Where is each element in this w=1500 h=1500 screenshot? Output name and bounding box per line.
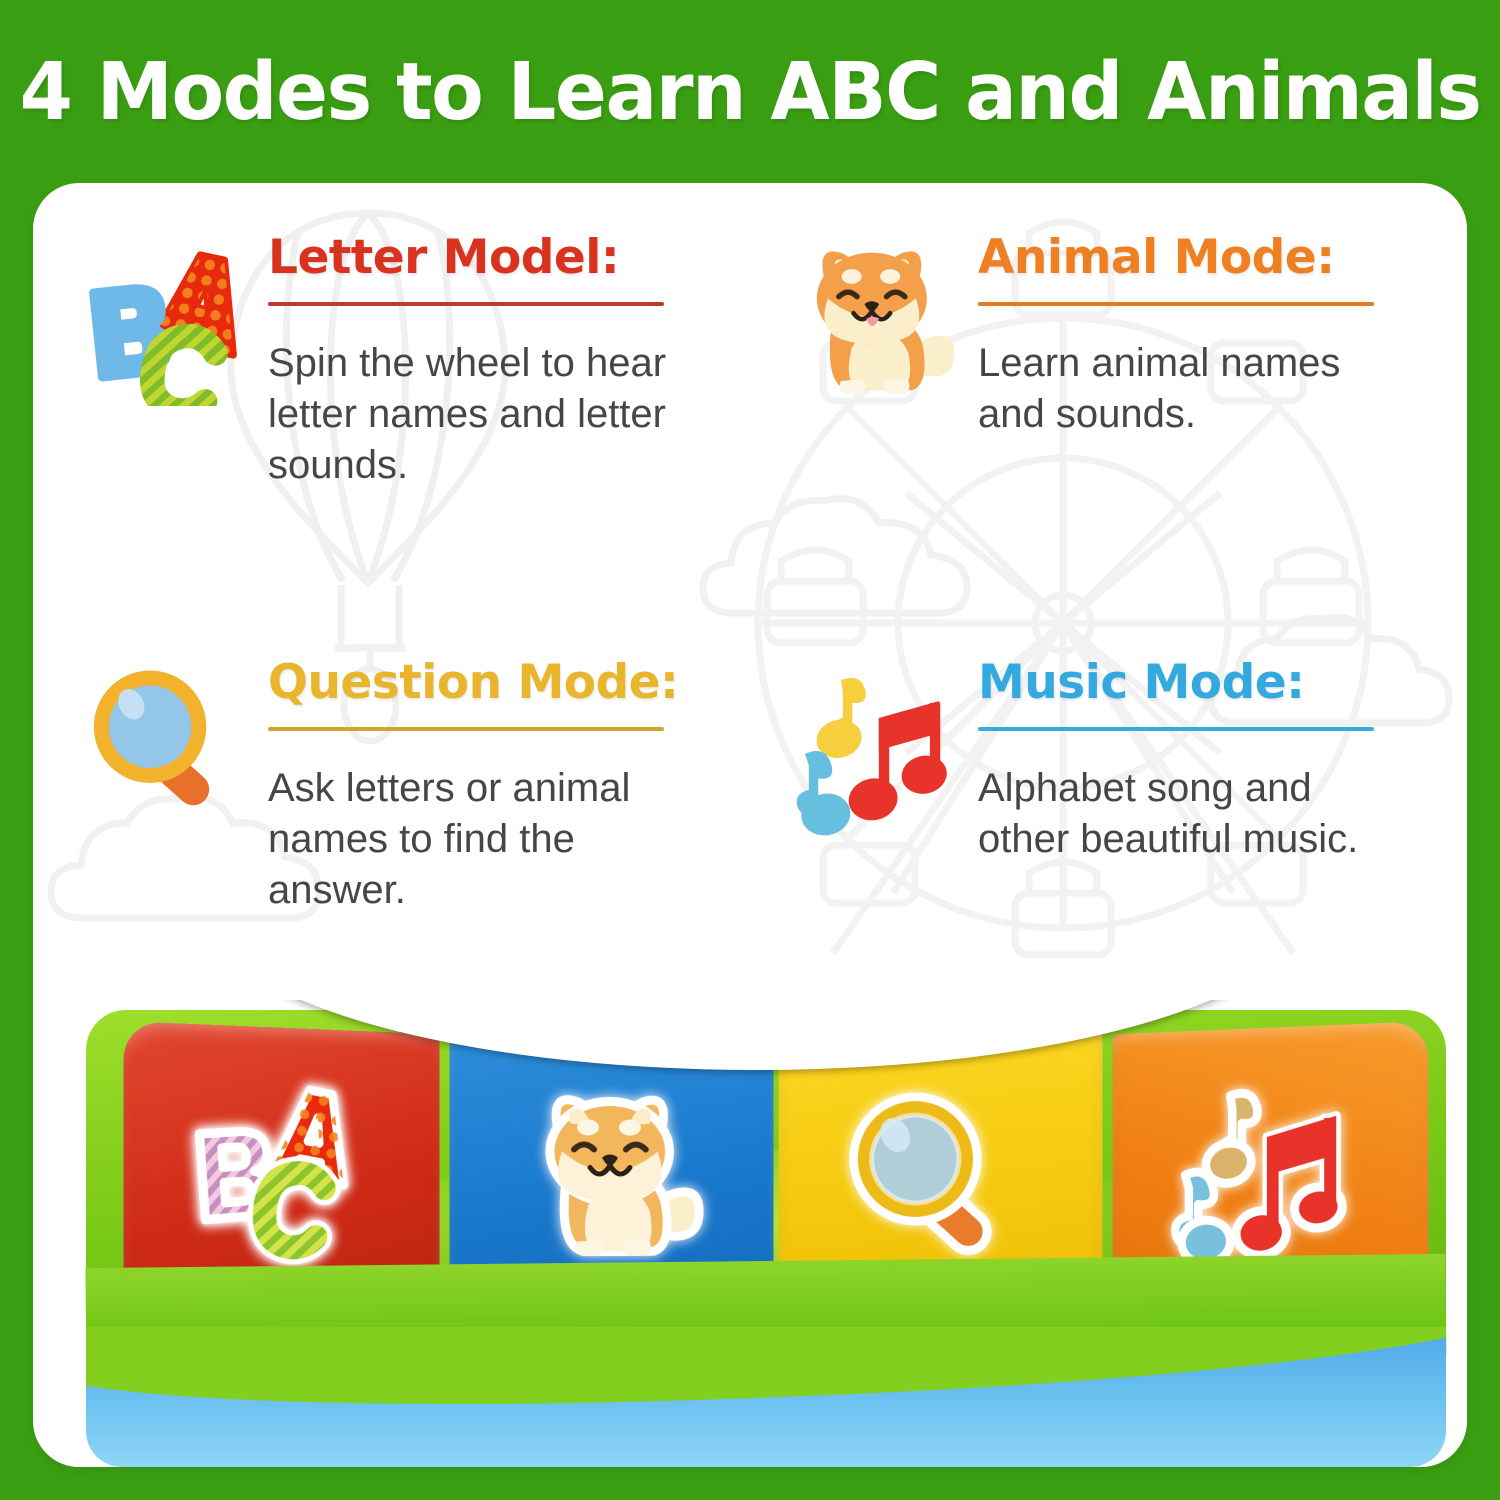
page-title: 4 Modes to Learn ABC and Animals	[20, 46, 1481, 138]
mode-heading: Animal Mode:	[978, 232, 1463, 285]
mode-underline-rule	[978, 302, 1374, 306]
feature-card: Letter Model: Spin the wheel to hear let…	[33, 183, 1467, 1467]
magnifying-glass-icon	[63, 653, 268, 916]
music-notes-icon	[773, 653, 978, 865]
mode-text-block: Animal Mode: Learn animal names and soun…	[978, 228, 1463, 440]
mode-description: Ask letters or animal names to find the …	[268, 763, 688, 917]
mode-underline-rule	[268, 302, 664, 306]
magnifying-glass-icon	[840, 1082, 1039, 1273]
page-header: 4 Modes to Learn ABC and Animals	[0, 0, 1500, 183]
music-notes-icon	[1169, 1080, 1363, 1275]
mode-description: Learn animal names and sounds.	[978, 338, 1388, 440]
mode-underline-rule	[268, 727, 664, 731]
toy-base	[86, 1327, 1446, 1467]
abc-letters-icon	[63, 228, 268, 491]
mode-item-question-mode[interactable]: Question Mode: Ask letters or animal nam…	[63, 653, 753, 916]
mode-item-letter-model[interactable]: Letter Model: Spin the wheel to hear let…	[63, 228, 753, 491]
mode-item-animal-mode[interactable]: Animal Mode: Learn animal names and soun…	[773, 228, 1463, 440]
shiba-dog-icon	[773, 228, 978, 440]
mode-text-block: Letter Model: Spin the wheel to hear let…	[268, 228, 753, 491]
mode-text-block: Music Mode: Alphabet song and other beau…	[978, 653, 1463, 865]
mode-heading: Question Mode:	[268, 657, 753, 710]
mode-item-music-mode[interactable]: Music Mode: Alphabet song and other beau…	[773, 653, 1463, 865]
shiba-dog-icon	[513, 1082, 712, 1273]
toy-device	[66, 1000, 1467, 1467]
abc-letters-icon	[189, 1080, 383, 1275]
mode-underline-rule	[978, 727, 1374, 731]
mode-heading: Letter Model:	[268, 232, 753, 285]
mode-text-block: Question Mode: Ask letters or animal nam…	[268, 653, 753, 916]
mode-heading: Music Mode:	[978, 657, 1463, 710]
modes-grid: Letter Model: Spin the wheel to hear let…	[33, 183, 1467, 983]
product-photo	[66, 1000, 1467, 1467]
mode-description: Spin the wheel to hear letter names and …	[268, 338, 688, 492]
mode-description: Alphabet song and other beautiful music.	[978, 763, 1408, 865]
